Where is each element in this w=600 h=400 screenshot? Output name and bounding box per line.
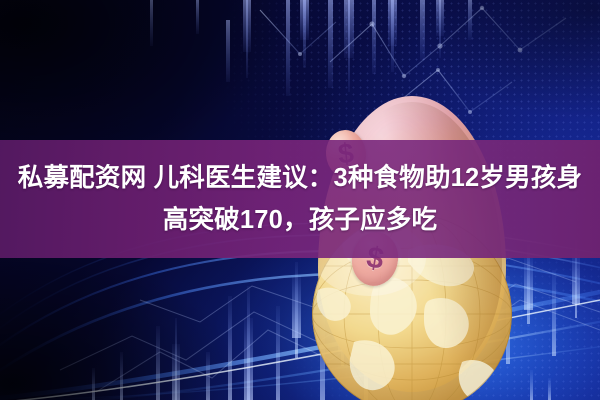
banner-image: $ $ 私募配资网 儿科医生建议：3种食物助12岁男孩身 高突破170，孩子应多… <box>0 0 600 400</box>
headline-band: 私募配资网 儿科医生建议：3种食物助12岁男孩身 高突破170，孩子应多吃 <box>0 140 600 258</box>
headline-line-1: 私募配资网 儿科医生建议：3种食物助12岁男孩身 <box>18 158 582 198</box>
headline-line-2: 高突破170，孩子应多吃 <box>163 200 437 240</box>
headline-text-container: 私募配资网 儿科医生建议：3种食物助12岁男孩身 高突破170，孩子应多吃 <box>0 140 600 258</box>
